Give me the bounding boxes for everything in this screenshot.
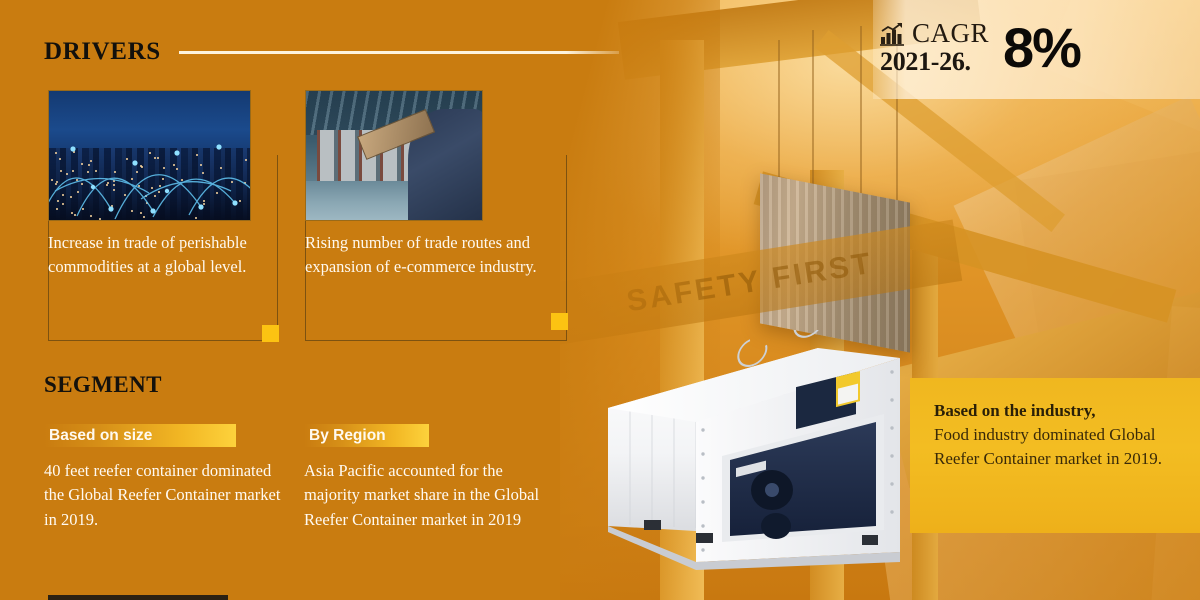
city-network-image: [49, 91, 250, 220]
drivers-rule: [179, 51, 619, 54]
network-arcs-overlay: [49, 91, 251, 221]
bar-chart-growth-icon: [880, 22, 906, 46]
global-network-city-photo: [48, 90, 251, 221]
accent-square-2: [551, 313, 568, 330]
driver-text-2: Rising number of trade routes and expans…: [305, 231, 567, 279]
segment-column-size: Based on size 40 feet reefer container d…: [44, 424, 282, 532]
segment-tag-region: By Region: [304, 424, 394, 448]
cagr-period: 2021-26.: [880, 47, 989, 77]
industry-panel-body: Food industry dominated Global Reefer Co…: [934, 423, 1180, 471]
cagr-badge: CAGR 2021-26. 8%: [880, 18, 1080, 77]
segment-heading: SEGMENT: [44, 372, 162, 398]
cagr-badge-text: CAGR 2021-26.: [880, 18, 989, 77]
industry-panel: Based on the industry, Food industry dom…: [910, 378, 1200, 533]
accent-square-1: [262, 325, 279, 342]
segment-body-size: 40 feet reefer container dominated the G…: [44, 459, 282, 532]
driver-card-2: Rising number of trade routes and expans…: [305, 90, 567, 279]
drivers-title: DRIVERS: [44, 38, 161, 66]
bottom-divider: [48, 595, 228, 600]
crane-cable: [860, 26, 862, 201]
warehouse-image: [306, 91, 482, 220]
cagr-label-row: CAGR: [880, 18, 989, 49]
segment-column-region: By Region Asia Pacific accounted for the…: [304, 424, 554, 532]
infographic-canvas: SAFETY FIRST CAGR 2021-26.: [0, 0, 1200, 600]
segment-body-region: Asia Pacific accounted for the majority …: [304, 459, 554, 532]
cagr-value: 8%: [1003, 20, 1080, 76]
drivers-heading: DRIVERS: [44, 38, 619, 66]
segment-tag-size: Based on size: [44, 424, 160, 448]
industry-panel-title: Based on the industry,: [934, 400, 1180, 423]
cagr-label: CAGR: [912, 18, 989, 49]
crane-cable: [812, 30, 814, 200]
driver-card-1: Increase in trade of perishable commodit…: [48, 90, 278, 279]
white-reefer-container-image: [600, 330, 930, 570]
segment-tag-region-label: By Region: [309, 427, 386, 444]
driver-text-1: Increase in trade of perishable commodit…: [48, 231, 278, 279]
segment-tag-size-label: Based on size: [49, 427, 152, 444]
warehouse-tablet-photo: [305, 90, 483, 221]
